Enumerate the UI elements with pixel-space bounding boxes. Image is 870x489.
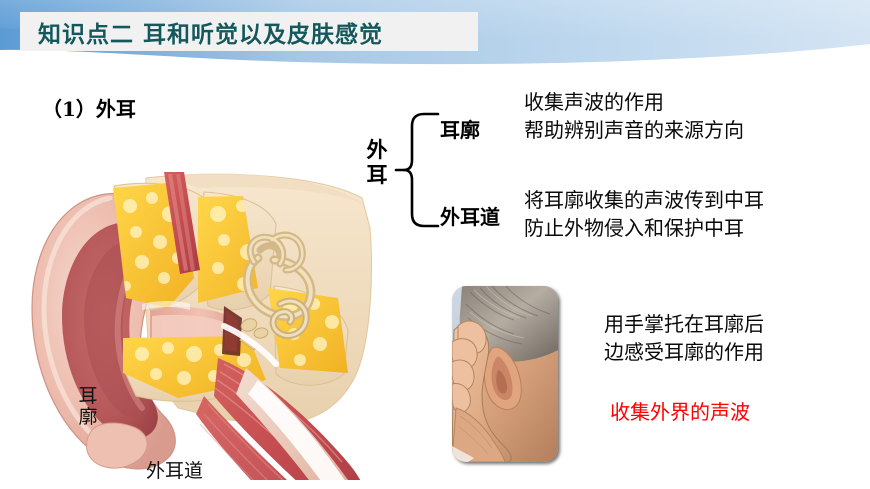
tree-root-line2: 耳 [360, 163, 394, 188]
hand-cupping-ear-image [452, 286, 558, 462]
ear-anatomy-figure: 耳 廓 外耳道 [18, 158, 388, 480]
ear-anatomy-illustration [18, 158, 388, 480]
curly-brace-icon [394, 108, 442, 233]
diagram-label-auricle: 耳 廓 [76, 386, 100, 427]
diagram-label-ear-canal: 外耳道 [146, 461, 203, 482]
tree-root-label: 外 耳 [360, 138, 394, 188]
slide-canvas: 知识点二 耳和听觉以及皮肤感觉 （1）外耳 [0, 0, 870, 489]
photo-note-line1: 用手掌托在耳廓后 [604, 310, 764, 338]
slide-header: 知识点二 耳和听觉以及皮肤感觉 [0, 0, 870, 78]
auricle-desc-line1: 收集声波的作用 [524, 88, 744, 116]
outer-ear-tree: 外 耳 耳廓 外耳道 [360, 100, 525, 240]
title-banner: 知识点二 耳和听觉以及皮肤感觉 [20, 12, 478, 51]
photo-caption-note: 用手掌托在耳廓后 边感受耳廓的作用 [604, 310, 764, 367]
page-title: 知识点二 耳和听觉以及皮肤感觉 [20, 15, 383, 49]
tree-leaf-auricle: 耳廓 [440, 114, 480, 143]
photo-note-line2: 边感受耳廓的作用 [604, 338, 764, 366]
auricle-desc-line2: 帮助辨别声音的来源方向 [524, 116, 744, 144]
ear-canal-desc-line1: 将耳廓收集的声波传到中耳 [524, 186, 764, 214]
tree-leaf-ear-canal: 外耳道 [440, 201, 500, 230]
hand-cupping-ear-photo [452, 286, 558, 462]
auricle-description: 收集声波的作用 帮助辨别声音的来源方向 [524, 88, 744, 145]
ear-canal-desc-line2: 防止外物侵入和保护中耳 [524, 214, 764, 242]
section-label: （1）外耳 [42, 93, 136, 122]
auricle-label-line1: 耳 [78, 385, 97, 407]
auricle-label-line2: 廓 [78, 406, 97, 428]
ear-canal-description: 将耳廓收集的声波传到中耳 防止外物侵入和保护中耳 [524, 186, 764, 243]
photo-conclusion-note: 收集外界的声波 [610, 398, 750, 426]
tree-root-line1: 外 [360, 138, 394, 163]
